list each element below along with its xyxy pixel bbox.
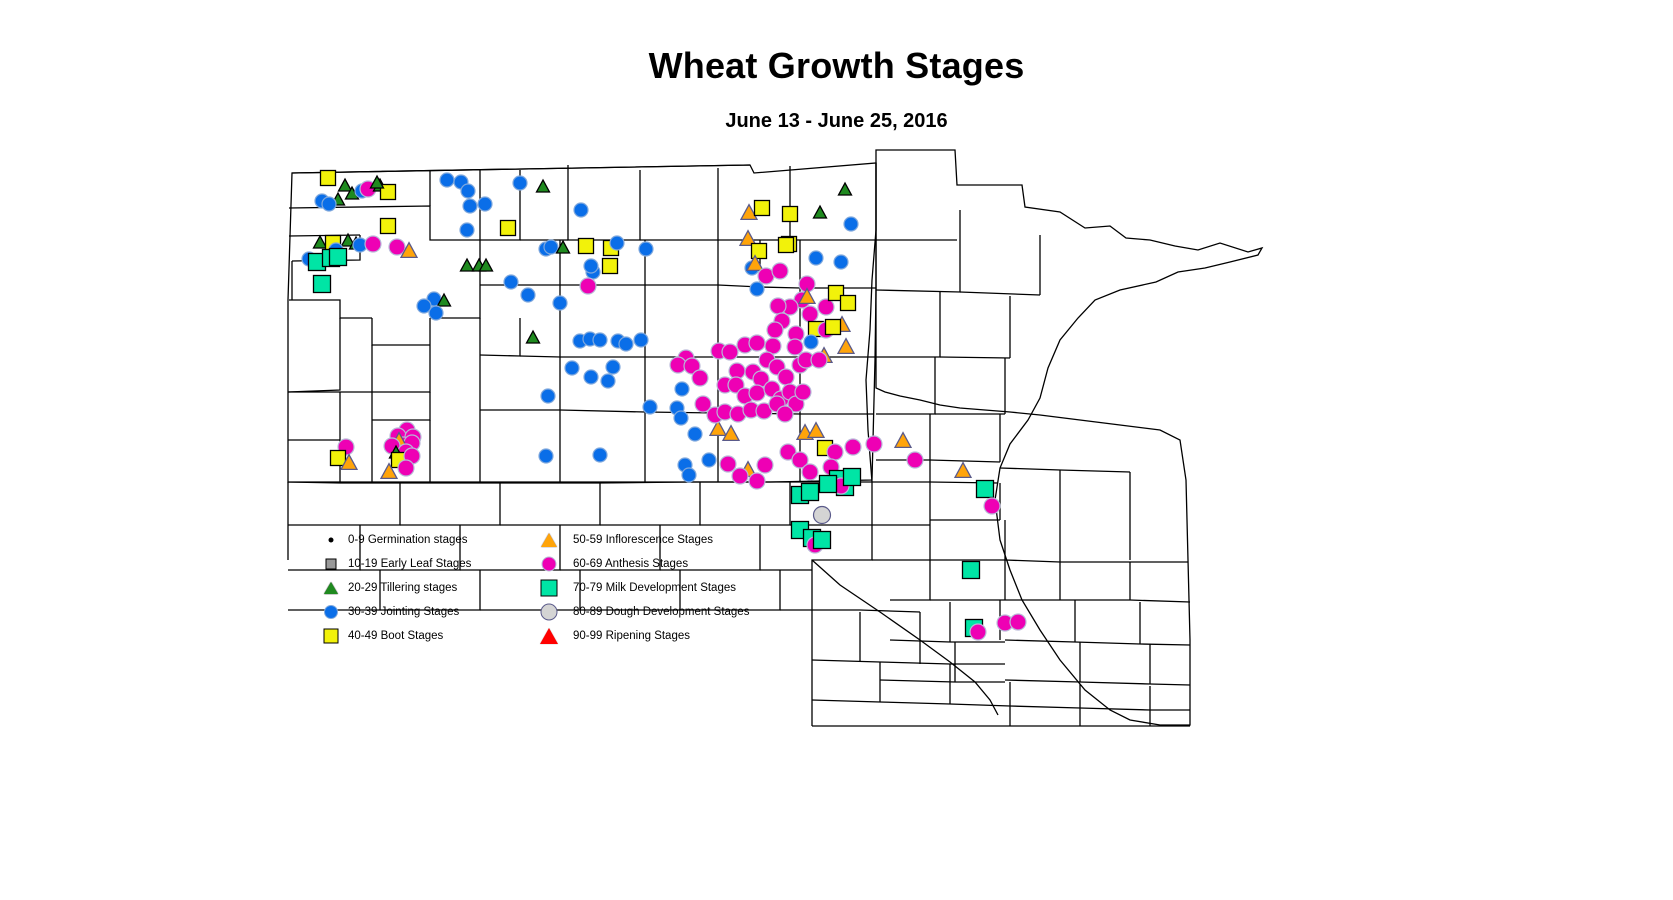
legend-item: 70-79 Milk Development Stages xyxy=(536,576,788,600)
legend-item: 0-9 Germination stages xyxy=(318,528,528,552)
map-marker-30-39 xyxy=(460,223,474,237)
legend-item: 80-89 Dough Development Stages xyxy=(536,600,788,624)
map-marker-60-69 xyxy=(757,457,773,473)
map-marker-30-39 xyxy=(584,370,598,384)
legend-item: 20-29 Tillering stages xyxy=(318,576,528,600)
legend-label: 70-79 Milk Development Stages xyxy=(562,582,736,594)
legend-column-left: 0-9 Germination stages10-19 Early Leaf S… xyxy=(318,528,528,648)
legend-item: 50-59 Inflorescence Stages xyxy=(536,528,788,552)
map-marker-30-39 xyxy=(750,282,764,296)
legend-item: 90-99 Ripening Stages xyxy=(536,624,788,648)
legend-circle-icon xyxy=(318,601,344,623)
map-marker-70-79 xyxy=(314,276,331,293)
map-marker-30-39 xyxy=(674,411,688,425)
map-marker-30-39 xyxy=(834,255,848,269)
map-marker-30-39 xyxy=(574,203,588,217)
map-marker-40-49 xyxy=(331,451,346,466)
map-marker-30-39 xyxy=(463,199,477,213)
map-marker-60-69 xyxy=(732,468,748,484)
map-marker-60-69 xyxy=(770,298,786,314)
legend-circle-icon xyxy=(536,601,562,623)
map-marker-20-29 xyxy=(814,206,827,218)
map-marker-30-39 xyxy=(478,197,492,211)
legend-column-right: 50-59 Inflorescence Stages60-69 Anthesis… xyxy=(536,528,788,648)
map-marker-40-49 xyxy=(826,320,841,335)
map-canvas xyxy=(0,0,1673,900)
map-marker-60-69 xyxy=(749,385,765,401)
map-marker-70-79 xyxy=(977,481,994,498)
legend-square-icon xyxy=(318,625,344,647)
map-marker-30-39 xyxy=(702,453,716,467)
legend-item: 60-69 Anthesis Stages xyxy=(536,552,788,576)
map-marker-70-79 xyxy=(844,469,861,486)
map-marker-30-39 xyxy=(541,389,555,403)
map-marker-40-49 xyxy=(321,171,336,186)
map-marker-30-39 xyxy=(539,449,553,463)
map-marker-60-69 xyxy=(984,498,1000,514)
legend-label: 20-29 Tillering stages xyxy=(344,582,457,594)
map-marker-30-39 xyxy=(593,333,607,347)
map-marker-60-69 xyxy=(365,236,381,252)
wheat-growth-stage-map-page: Wheat Growth Stages June 13 - June 25, 2… xyxy=(0,0,1673,900)
map-marker-20-29 xyxy=(839,183,852,195)
map-marker-30-39 xyxy=(461,184,475,198)
map-marker-60-69 xyxy=(970,624,986,640)
map-marker-60-69 xyxy=(811,352,827,368)
map-marker-30-39 xyxy=(639,242,653,256)
legend-item: 10-19 Early Leaf Stages xyxy=(318,552,528,576)
map-marker-30-39 xyxy=(584,259,598,273)
map-marker-60-69 xyxy=(720,456,736,472)
map-marker-40-49 xyxy=(381,219,396,234)
map-marker-60-69 xyxy=(827,444,843,460)
legend-label: 40-49 Boot Stages xyxy=(344,630,443,642)
map-marker-70-79 xyxy=(963,562,980,579)
map-marker-30-39 xyxy=(521,288,535,302)
map-marker-30-39 xyxy=(513,176,527,190)
legend-label: 80-89 Dough Development Stages xyxy=(562,606,749,618)
map-marker-60-69 xyxy=(778,369,794,385)
map-marker-40-49 xyxy=(779,238,794,253)
map-marker-40-49 xyxy=(755,201,770,216)
map-svg xyxy=(0,0,1673,900)
map-marker-60-69 xyxy=(1010,614,1026,630)
map-marker-50-59 xyxy=(838,339,854,354)
legend-label: 10-19 Early Leaf Stages xyxy=(344,558,471,570)
legend-item: 40-49 Boot Stages xyxy=(318,624,528,648)
legend-triangle-icon xyxy=(318,577,344,599)
map-marker-70-79 xyxy=(802,484,819,501)
map-marker-60-69 xyxy=(845,439,861,455)
map-marker-30-39 xyxy=(619,337,633,351)
map-marker-20-29 xyxy=(461,259,474,271)
map-marker-60-69 xyxy=(777,406,793,422)
map-marker-40-49 xyxy=(603,259,618,274)
map-marker-20-29 xyxy=(314,236,327,248)
map-marker-60-69 xyxy=(795,384,811,400)
map-marker-30-39 xyxy=(593,448,607,462)
map-marker-70-79 xyxy=(820,476,837,493)
legend-triangle-icon xyxy=(536,529,562,551)
map-marker-30-39 xyxy=(610,236,624,250)
map-marker-30-39 xyxy=(440,173,454,187)
map-marker-30-39 xyxy=(606,360,620,374)
map-marker-60-69 xyxy=(767,322,783,338)
legend-label: 0-9 Germination stages xyxy=(344,534,468,546)
map-marker-50-59 xyxy=(955,463,971,478)
map-marker-40-49 xyxy=(752,244,767,259)
map-marker-30-39 xyxy=(844,217,858,231)
map-marker-30-39 xyxy=(682,468,696,482)
map-marker-50-59 xyxy=(895,433,911,448)
legend-label: 60-69 Anthesis Stages xyxy=(562,558,688,570)
legend-circle-icon xyxy=(536,553,562,575)
map-marker-20-29 xyxy=(537,180,550,192)
map-marker-60-69 xyxy=(722,344,738,360)
map-marker-30-39 xyxy=(565,361,579,375)
map-marker-70-79 xyxy=(330,249,347,266)
map-marker-30-39 xyxy=(675,382,689,396)
map-marker-70-79 xyxy=(814,532,831,549)
map-marker-20-29 xyxy=(527,331,540,343)
map-marker-60-69 xyxy=(787,339,803,355)
map-marker-80-89 xyxy=(814,507,831,524)
map-marker-40-49 xyxy=(579,239,594,254)
map-marker-50-59 xyxy=(808,423,824,438)
map-marker-60-69 xyxy=(749,335,765,351)
legend-triangle-icon xyxy=(536,625,562,647)
legend-square-icon xyxy=(318,553,344,575)
map-marker-30-39 xyxy=(809,251,823,265)
map-marker-60-69 xyxy=(907,452,923,468)
legend-square-icon xyxy=(536,577,562,599)
map-marker-30-39 xyxy=(643,400,657,414)
map-marker-40-49 xyxy=(501,221,516,236)
map-marker-60-69 xyxy=(398,460,414,476)
legend-dot-icon xyxy=(318,529,344,551)
map-marker-60-69 xyxy=(818,299,834,315)
map-marker-30-39 xyxy=(504,275,518,289)
legend-item: 30-39 Jointing Stages xyxy=(318,600,528,624)
map-marker-60-69 xyxy=(802,464,818,480)
map-marker-60-69 xyxy=(692,370,708,386)
map-marker-60-69 xyxy=(866,436,882,452)
map-marker-20-29 xyxy=(339,179,352,191)
legend-label: 90-99 Ripening Stages xyxy=(562,630,690,642)
map-marker-40-49 xyxy=(783,207,798,222)
map-marker-30-39 xyxy=(601,374,615,388)
map-marker-30-39 xyxy=(804,335,818,349)
legend-label: 50-59 Inflorescence Stages xyxy=(562,534,713,546)
legend-label: 30-39 Jointing Stages xyxy=(344,606,459,618)
map-legend: 0-9 Germination stages10-19 Early Leaf S… xyxy=(318,528,788,664)
map-marker-60-69 xyxy=(749,473,765,489)
map-marker-30-39 xyxy=(417,299,431,313)
map-marker-60-69 xyxy=(802,306,818,322)
map-marker-30-39 xyxy=(688,427,702,441)
map-marker-30-39 xyxy=(553,296,567,310)
map-marker-40-49 xyxy=(841,296,856,311)
map-marker-30-39 xyxy=(634,333,648,347)
map-marker-60-69 xyxy=(772,263,788,279)
map-marker-60-69 xyxy=(580,278,596,294)
map-marker-60-69 xyxy=(389,239,405,255)
map-marker-30-39 xyxy=(544,240,558,254)
map-marker-30-39 xyxy=(322,197,336,211)
